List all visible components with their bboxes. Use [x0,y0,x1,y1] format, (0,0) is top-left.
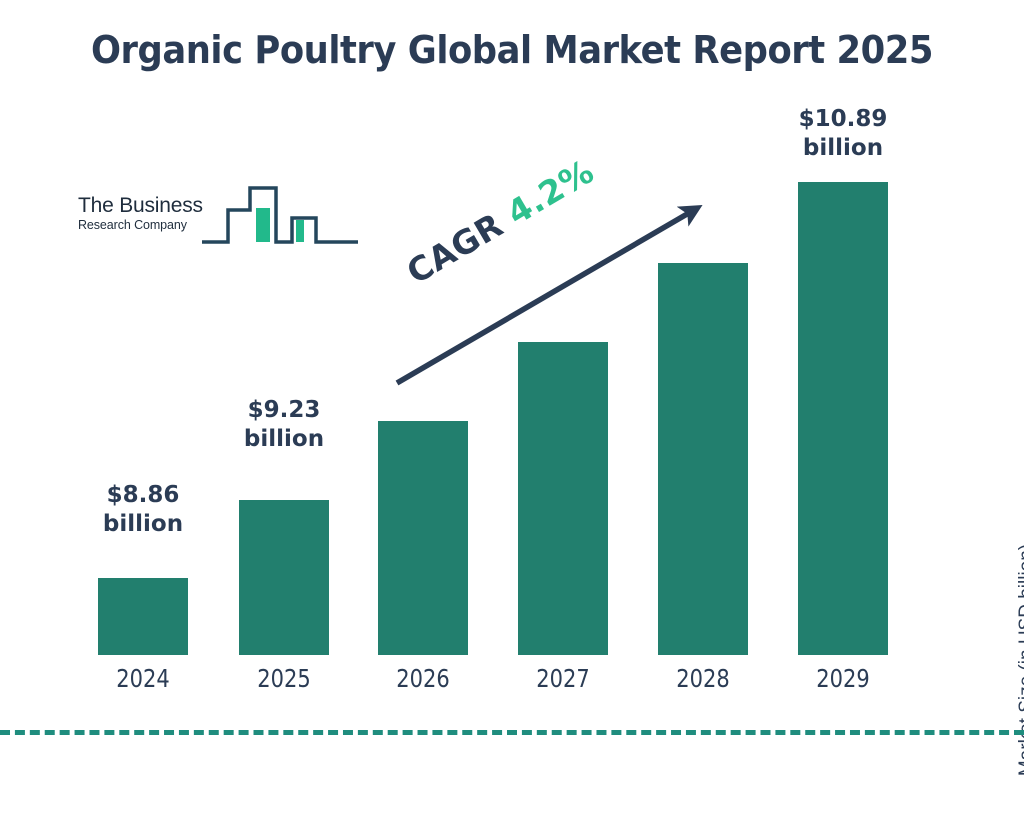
footer-divider [0,730,1024,735]
cagr-prefix: CAGR [400,199,520,292]
plot-area: $8.86 billion $9.23 billion $10.89 billi… [0,0,1024,768]
bar-2027 [518,342,608,655]
bar-2028 [658,263,748,655]
bar-2026 [378,421,468,655]
x-tick-2028: 2028 [665,664,741,693]
bar-2029 [798,182,888,655]
x-tick-2027: 2027 [525,664,601,693]
bar-value-label-2025: $9.23 billion [219,396,349,454]
x-tick-2029: 2029 [805,664,881,693]
bar-2025 [239,500,329,655]
cagr-label: CAGR 4.2% [400,152,601,292]
x-tick-2025: 2025 [246,664,322,693]
bar-value-label-2029: $10.89 billion [778,105,908,163]
bar-2024 [98,578,188,655]
bar-value-label-2024: $8.86 billion [78,481,208,539]
cagr-rate: 4.2% [500,152,600,233]
x-tick-2024: 2024 [105,664,181,693]
x-tick-2026: 2026 [385,664,461,693]
y-axis-title: Market Size (in USD billion) [1016,495,1024,825]
chart-canvas: Organic Poultry Global Market Report 202… [0,0,1024,768]
